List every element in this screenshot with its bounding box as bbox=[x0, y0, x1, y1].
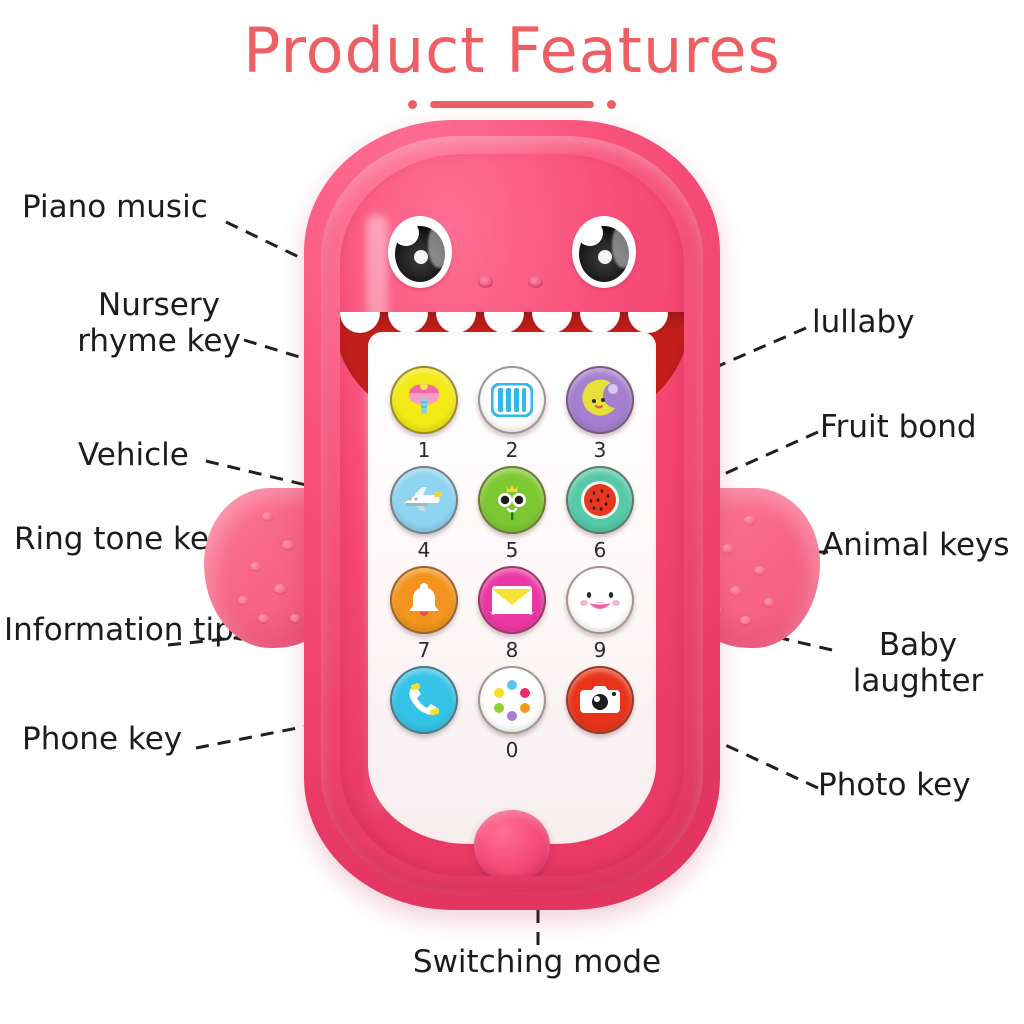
callout-photo-key: Photo key bbox=[818, 768, 971, 804]
airplane-icon bbox=[392, 468, 456, 532]
rattle-icon bbox=[392, 368, 456, 432]
callout-ring-tone-key: Ring tone key bbox=[14, 522, 227, 558]
eye-right-icon bbox=[572, 216, 636, 288]
eye-left-icon bbox=[388, 216, 452, 288]
keypad-row: 0 bbox=[368, 666, 656, 766]
frog-icon bbox=[480, 468, 544, 532]
key-number: 3 bbox=[566, 438, 634, 462]
color-dots-icon bbox=[480, 668, 544, 732]
key-number: 2 bbox=[478, 438, 546, 462]
key-number: 5 bbox=[478, 538, 546, 562]
callout-piano-music: Piano music bbox=[22, 190, 208, 226]
key-number: 4 bbox=[390, 538, 458, 562]
key-number: 9 bbox=[566, 638, 634, 662]
divider-dot-right bbox=[607, 100, 616, 109]
switching-mode-button[interactable] bbox=[474, 810, 550, 876]
moon-icon bbox=[568, 368, 632, 432]
infographic-canvas: Product Features bbox=[0, 0, 1024, 1024]
key-number: 0 bbox=[478, 738, 546, 762]
key-number: 6 bbox=[566, 538, 634, 562]
keypad: 1 2 3 bbox=[368, 366, 656, 766]
callout-nursery-rhyme: Nursery rhyme key bbox=[64, 288, 254, 360]
envelope-icon bbox=[480, 568, 544, 632]
smile-face-icon bbox=[568, 568, 632, 632]
watermelon-icon bbox=[568, 468, 632, 532]
nostril-right-icon bbox=[528, 276, 543, 288]
callout-baby-laughter: Baby laughter bbox=[818, 628, 1018, 700]
key-5-animal-keys[interactable] bbox=[478, 466, 546, 534]
bell-icon bbox=[392, 568, 456, 632]
key-0-color-dots[interactable] bbox=[478, 666, 546, 734]
toy-phone: 1 2 3 bbox=[304, 120, 720, 910]
keypad-row: 1 2 3 bbox=[368, 366, 656, 466]
phone-body-inner: 1 2 3 bbox=[340, 154, 684, 876]
callout-animal-keys: Animal keys bbox=[822, 528, 1010, 564]
key-number: 1 bbox=[390, 438, 458, 462]
phone-icon bbox=[392, 668, 456, 732]
key-3-lullaby[interactable] bbox=[566, 366, 634, 434]
key-number: 7 bbox=[390, 638, 458, 662]
key-7-ring-tone[interactable] bbox=[390, 566, 458, 634]
callout-vehicle: Vehicle bbox=[78, 438, 189, 474]
key-4-vehicle[interactable] bbox=[390, 466, 458, 534]
divider-bar bbox=[430, 101, 594, 108]
key-photo[interactable] bbox=[566, 666, 634, 734]
divider-dot-left bbox=[408, 100, 417, 109]
phone-screen: 1 2 3 bbox=[368, 332, 656, 844]
key-9-baby-laughter[interactable] bbox=[566, 566, 634, 634]
callout-information-tips: Information tips bbox=[4, 613, 250, 649]
callout-lullaby: lullaby bbox=[812, 305, 915, 341]
piano-icon bbox=[480, 368, 544, 432]
page-title: Product Features bbox=[0, 14, 1024, 87]
nostril-left-icon bbox=[478, 276, 493, 288]
callout-fruit-bond: Fruit bond bbox=[820, 410, 977, 446]
callout-switching-mode: Switching mode bbox=[362, 945, 712, 981]
keypad-row: 4 5 6 bbox=[368, 466, 656, 566]
key-1-nursery-rhyme[interactable] bbox=[390, 366, 458, 434]
key-number: 8 bbox=[478, 638, 546, 662]
key-6-fruit-bond[interactable] bbox=[566, 466, 634, 534]
key-2-piano-music[interactable] bbox=[478, 366, 546, 434]
key-8-information-tips[interactable] bbox=[478, 566, 546, 634]
keypad-row: 7 8 9 bbox=[368, 566, 656, 666]
camera-icon bbox=[568, 668, 632, 732]
callout-phone-key: Phone key bbox=[22, 722, 182, 758]
key-phone[interactable] bbox=[390, 666, 458, 734]
